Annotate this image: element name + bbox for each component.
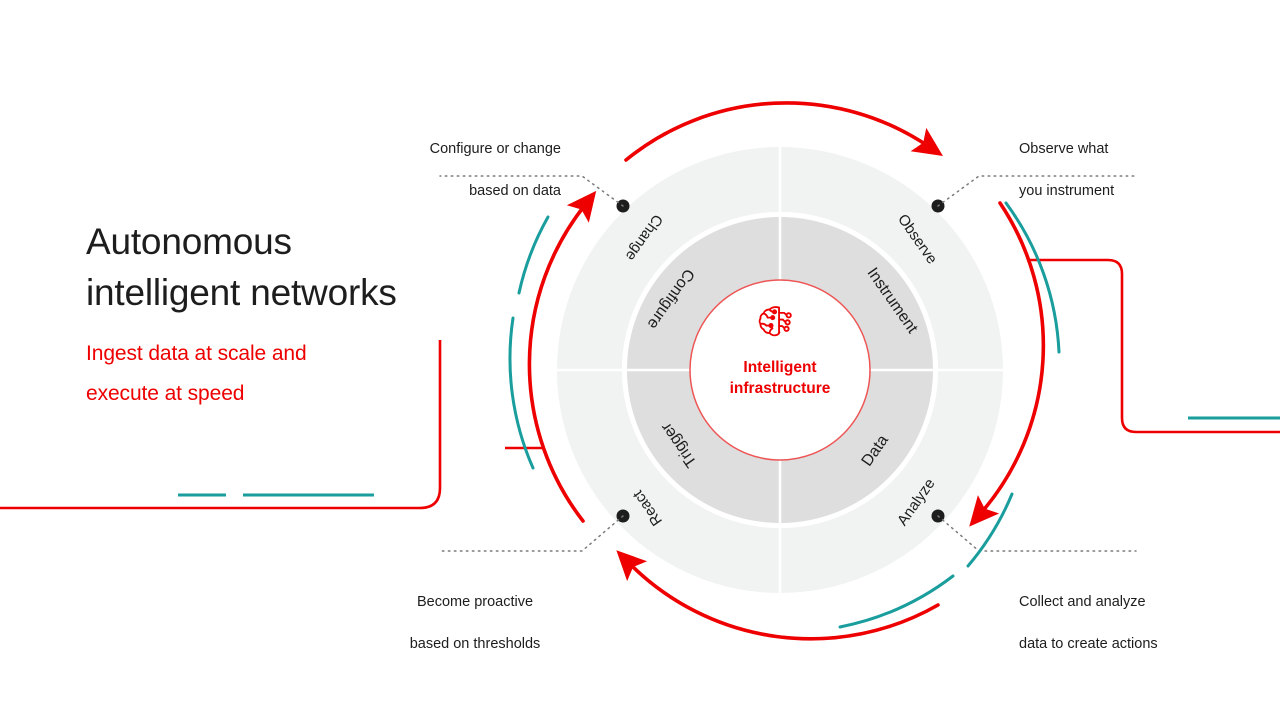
leader-analyze <box>938 516 1136 551</box>
callout-line-2: you instrument <box>1019 181 1269 202</box>
circuit-trace-right <box>1030 260 1280 432</box>
callout-become-proactive: Become proactive based on thresholds <box>350 571 600 676</box>
callout-line-2: based on data <box>311 181 561 202</box>
callout-observe-what-you-instrument: Observe what you instrument <box>1019 118 1269 223</box>
leader-react <box>440 516 623 551</box>
teal-arc-bottom <box>840 576 953 627</box>
center-label-line-1: Intelligent <box>743 359 816 376</box>
headline-line-2: intelligent networks <box>86 267 506 318</box>
callout-line-1: Collect and analyze <box>1019 592 1269 613</box>
page-title: Autonomous intelligent networks <box>86 216 506 318</box>
subhead-line-1: Ingest data at scale and <box>86 342 307 365</box>
subhead-line-2: execute at speed <box>86 374 486 414</box>
callout-line-1: Become proactive <box>350 592 600 613</box>
slide-canvas: Autonomous intelligent networks Ingest d… <box>0 0 1280 720</box>
callout-line-1: Observe what <box>1019 139 1269 160</box>
callout-line-2: based on thresholds <box>350 634 600 655</box>
callout-line-1: Configure or change <box>311 139 561 160</box>
callout-collect-and-analyze: Collect and analyze data to create actio… <box>1019 571 1269 676</box>
center-label: Intelligent infrastructure <box>680 357 880 399</box>
callout-configure-or-change: Configure or change based on data <box>311 118 561 223</box>
callout-line-2: data to create actions <box>1019 634 1269 655</box>
page-subtitle: Ingest data at scale and execute at spee… <box>86 334 486 414</box>
center-label-line-2: infrastructure <box>680 378 880 399</box>
headline-line-1: Autonomous <box>86 221 292 262</box>
